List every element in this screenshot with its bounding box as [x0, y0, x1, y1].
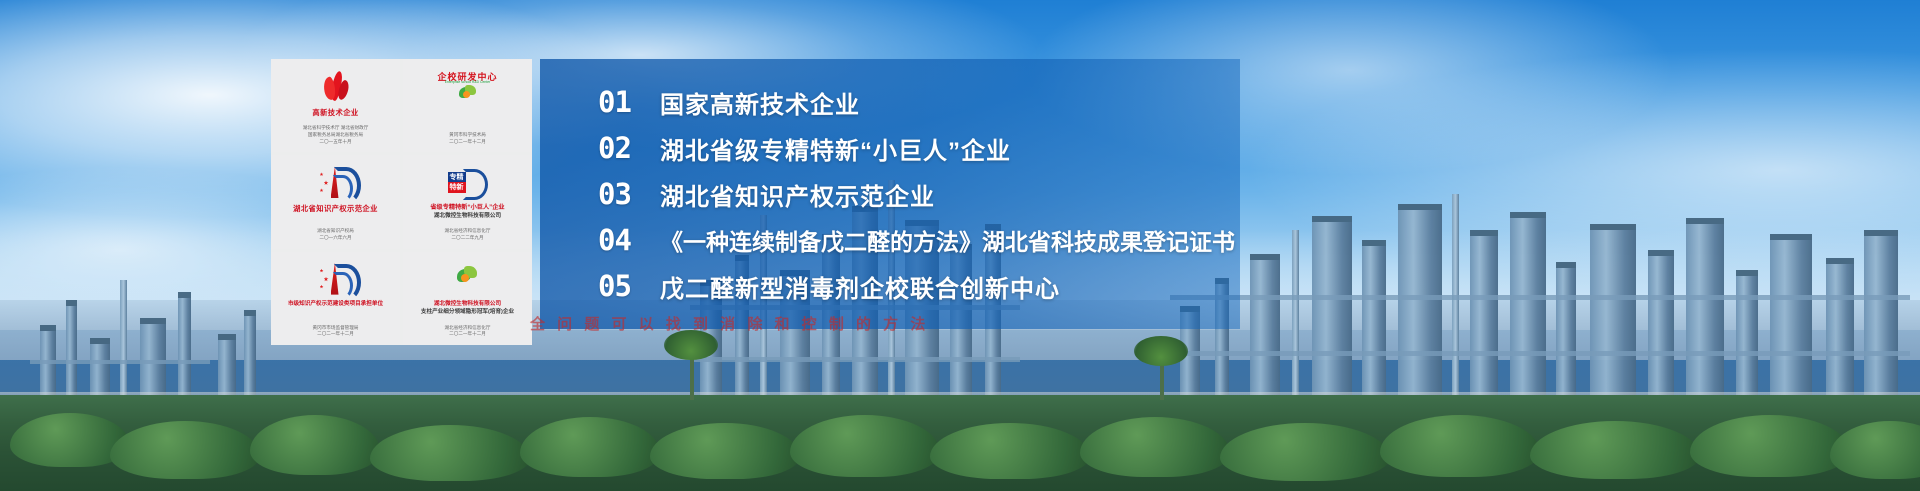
- honor-item-number: 02: [598, 131, 660, 165]
- honor-list-item: 02 湖北省级专精特新“小巨人”企业: [598, 125, 1240, 171]
- certificate-title: 湖北微控生物科技有限公司: [434, 301, 501, 308]
- honor-list-item: 04 《一种连续制备戊二醛的方法》湖北省科技成果登记证书: [598, 217, 1240, 263]
- honor-item-text: 湖北省知识产权示范企业: [660, 177, 935, 212]
- school-rd-center-emblem: 企校研发中心 Enterprise school R&D Center: [453, 66, 483, 106]
- honor-item-text: 湖北省级专精特新“小巨人”企业: [660, 131, 1011, 166]
- honor-item-number: 04: [598, 223, 660, 257]
- honor-item-text: 国家高新技术企业: [660, 85, 860, 120]
- hero-banner: 高新技术企业 湖北省科学技术厅 湖北省财政厅 国家税务总局湖北省税务局 二〇一五…: [0, 0, 1920, 491]
- ip-sail-emblem: [319, 162, 353, 202]
- certificate-title: 高新技术企业: [312, 108, 358, 117]
- palm-crown: [1134, 336, 1188, 366]
- certificate-card[interactable]: 专精特新 省级专精特新“小巨人”企业 湖北微控生物科技有限公司 湖北省经济和信息…: [403, 155, 532, 248]
- honor-list-item: 03 湖北省知识产权示范企业: [598, 171, 1240, 217]
- slogan-watermark: 全 问 题 可 以 找 到 消 除 和 控 制 的 方 法: [530, 313, 1170, 334]
- honor-item-number: 01: [598, 85, 660, 119]
- certificate-title: 市级知识产权示范建设类项目承担单位: [288, 301, 383, 308]
- honor-item-text: 戊二醛新型消毒剂企校联合创新中心: [660, 269, 1060, 304]
- honor-item-number: 05: [598, 269, 660, 303]
- honor-list-item: 05 戊二醛新型消毒剂企校联合创新中心: [598, 263, 1240, 309]
- certificate-subtitle: 湖北微控生物科技有限公司: [434, 213, 501, 220]
- certificate-issuer: 湖北省经济和信息化厅 二〇二一年十二月: [445, 325, 491, 338]
- weikong-leaf-emblem: [455, 259, 481, 299]
- honor-list-panel: 01 国家高新技术企业 02 湖北省级专精特新“小巨人”企业 03 湖北省知识产…: [540, 59, 1240, 329]
- certificate-card[interactable]: 高新技术企业 湖北省科学技术厅 湖北省财政厅 国家税务总局湖北省税务局 二〇一五…: [271, 59, 400, 152]
- certificate-issuer: 黄冈市市场监督管理局 二〇二一年十二月: [313, 325, 359, 338]
- certificate-card[interactable]: 企校研发中心 Enterprise school R&D Center 黄冈市科…: [403, 59, 532, 152]
- certificate-issuer: 湖北省科学技术厅 湖北省财政厅 国家税务总局湖北省税务局 二〇一五年十月: [303, 125, 369, 145]
- certificate-grid: 高新技术企业 湖北省科学技术厅 湖北省财政厅 国家税务总局湖北省税务局 二〇一五…: [271, 59, 532, 345]
- certificate-card[interactable]: 湖北微控生物科技有限公司 支柱产业细分领域隐形冠军(培育)企业 湖北省经济和信息…: [403, 252, 532, 345]
- certificate-title: 省级专精特新“小巨人”企业: [430, 204, 504, 212]
- ip-sail-emblem: [319, 259, 353, 299]
- certificate-issuer: 黄冈市科学技术局 二〇二一年十二月: [449, 132, 486, 145]
- honor-item-text: 《一种连续制备戊二醛的方法》湖北省科技成果登记证书: [660, 223, 1235, 257]
- flame-emblem: [323, 66, 349, 106]
- certificate-issuer: 湖北省经济和信息化厅 二〇二二年九月: [445, 228, 491, 241]
- certificate-issuer: 湖北省知识产权局 二〇一六年六月: [317, 228, 354, 241]
- honor-item-number: 03: [598, 177, 660, 211]
- certificate-card[interactable]: 湖北省知识产权示范企业 湖北省知识产权局 二〇一六年六月: [271, 155, 400, 248]
- certificate-title: 湖北省知识产权示范企业: [293, 204, 378, 213]
- certificate-subtitle: 支柱产业细分领域隐形冠军(培育)企业: [421, 309, 514, 316]
- emblem-subtitle-text: Enterprise school R&D Center: [445, 80, 490, 84]
- honor-list-item: 01 国家高新技术企业: [598, 79, 1240, 125]
- palm-crown: [664, 330, 718, 360]
- certificate-card[interactable]: 市级知识产权示范建设类项目承担单位 黄冈市市场监督管理局 二〇二一年十二月: [271, 252, 400, 345]
- greenery-ground: [0, 395, 1920, 491]
- zhuanjing-texin-emblem: 专精特新: [448, 162, 488, 202]
